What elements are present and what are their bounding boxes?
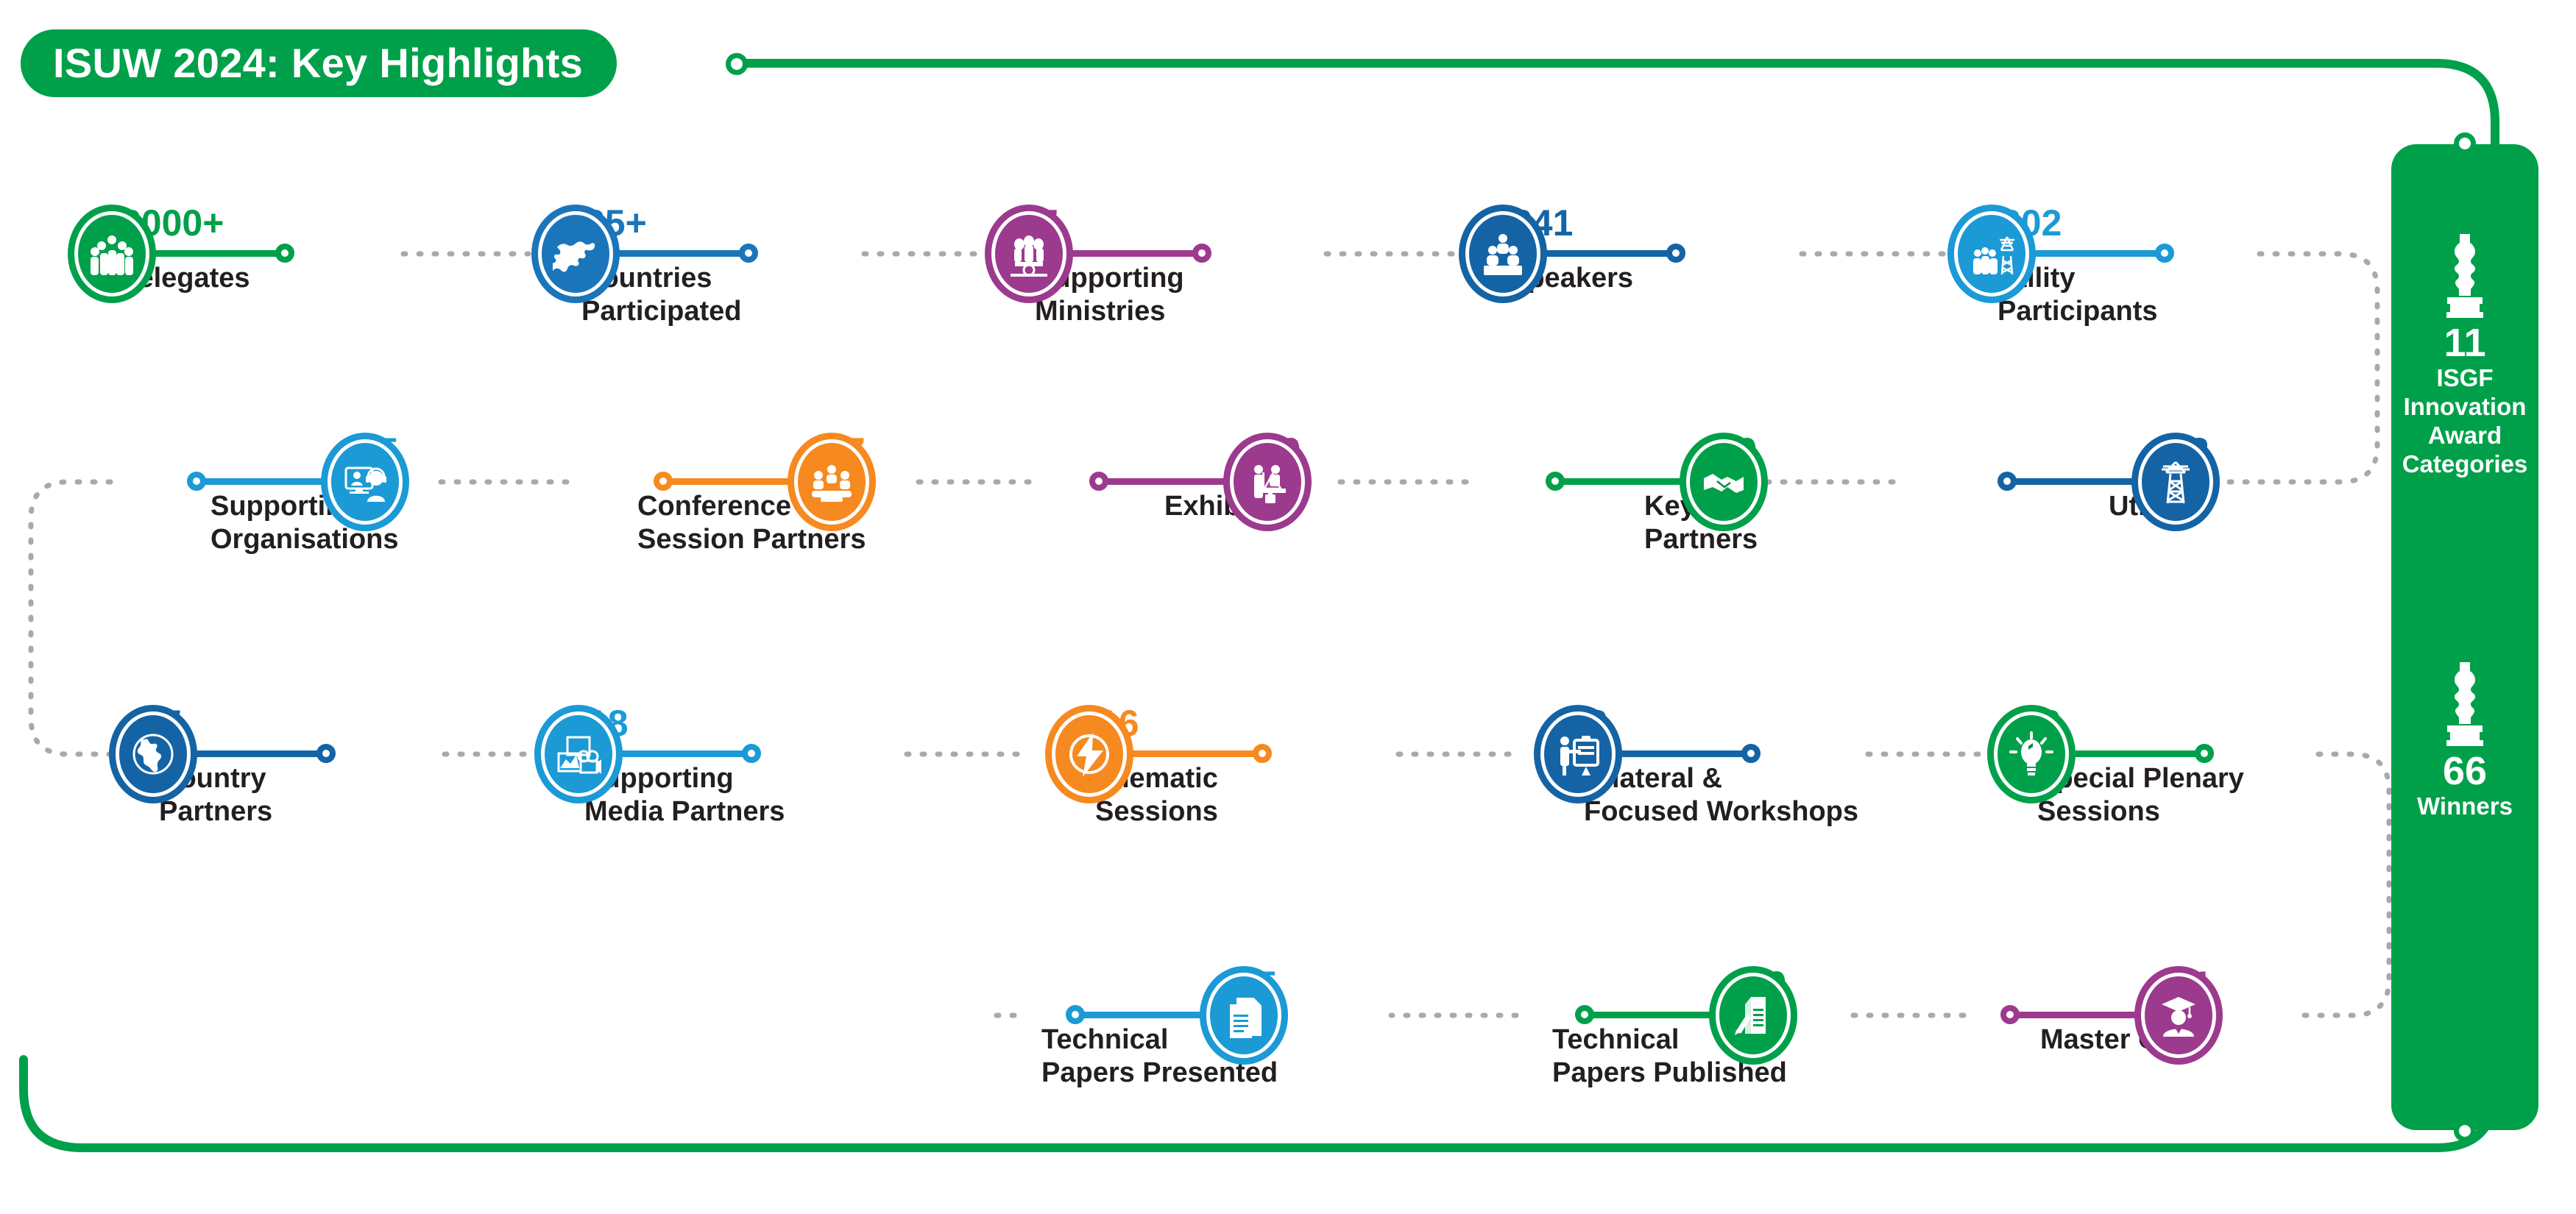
stat-icon-ring-supporting-orgs (321, 433, 409, 531)
award-categories-value: 11 (2391, 322, 2538, 364)
stat-icon-ring-utilities (2131, 433, 2220, 531)
award-block-winners: 66 Winners (2391, 659, 2538, 821)
stat-connector-countries (614, 250, 745, 257)
exhibition-booth-icon (1234, 443, 1301, 521)
stat-icon-ring-bilateral-workshops (1534, 705, 1622, 803)
infographic-canvas: ISUW 2024: Key Highlights 2000+Delegates… (0, 0, 2576, 1214)
stat-connector-knob-conference-partners (654, 472, 673, 491)
stat-connector-knob-utility-participants (2155, 244, 2174, 263)
stat-connector-speakers (1541, 250, 1672, 257)
stat-connector-supporting-orgs (196, 478, 327, 485)
speaker-panel-icon (1469, 215, 1537, 293)
stat-icon-ring-key-partners (1680, 433, 1768, 531)
stat-connector-knob-speakers (1666, 244, 1685, 263)
stat-connector-plenary-sessions (2070, 750, 2201, 757)
stat-icon-ring-thematic-sessions (1045, 705, 1133, 803)
title-connector-knob (726, 53, 748, 75)
stat-connector-knob-supporting-orgs (187, 472, 206, 491)
handshake-icon (1690, 443, 1758, 521)
transmission-tower-icon (2142, 443, 2209, 521)
stat-connector-country-partners (191, 750, 322, 757)
stat-connector-media-partners (617, 750, 748, 757)
stat-connector-knob-countries (739, 244, 758, 263)
stat-connector-utilities (2006, 478, 2137, 485)
stat-connector-ministries (1067, 250, 1198, 257)
stat-icon-ring-speakers (1459, 205, 1547, 303)
stat-icon-ring-ministries (985, 205, 1073, 303)
stat-connector-knob-master-class (2000, 1005, 2020, 1024)
energy-bolt-icon (1055, 715, 1123, 793)
presentation-board-icon (1544, 715, 1612, 793)
stat-icon-ring-conference-partners (788, 433, 876, 531)
trophy-icon (2442, 659, 2488, 746)
stat-connector-knob-country-partners (316, 744, 336, 763)
globe-world-map-icon (542, 215, 609, 293)
stat-icon-ring-exhibitors (1223, 433, 1312, 531)
stat-connector-key-partners (1554, 478, 1685, 485)
stat-connector-knob-ministries (1192, 244, 1211, 263)
lightbulb-icon (1998, 715, 2065, 793)
award-winners-label: Winners (2391, 792, 2538, 821)
media-camera-icon (545, 715, 612, 793)
stat-connector-papers-published (1584, 1012, 1715, 1018)
globe-americas-icon (119, 715, 187, 793)
stat-connector-utility-participants (2030, 250, 2161, 257)
graduate-icon (2145, 976, 2212, 1054)
stat-connector-exhibitors (1098, 478, 1229, 485)
stat-connector-knob-exhibitors (1089, 472, 1108, 491)
award-block-categories: 11 ISGF Innovation Award Categories (2391, 231, 2538, 478)
stat-connector-knob-plenary-sessions (2195, 744, 2214, 763)
award-panel-top-knob (2454, 132, 2476, 155)
award-panel: 11 ISGF Innovation Award Categories 66 W… (2391, 144, 2538, 1130)
stat-icon-ring-papers-published (1709, 966, 1797, 1065)
utility-crowd-tower-icon (1958, 215, 2025, 293)
stat-icon-ring-media-partners (534, 705, 623, 803)
stat-connector-knob-media-partners (742, 744, 761, 763)
award-winners-value: 66 (2391, 750, 2538, 792)
stat-icon-ring-delegates (68, 205, 156, 303)
stat-icon-ring-country-partners (109, 705, 197, 803)
stat-connector-bilateral-workshops (1616, 750, 1747, 757)
stat-icon-ring-utility-participants (1947, 205, 2036, 303)
stat-connector-knob-papers-presented (1066, 1005, 1085, 1024)
trophy-icon (2442, 231, 2488, 318)
stat-connector-papers-presented (1075, 1012, 1206, 1018)
stat-icon-ring-master-class (2134, 966, 2223, 1065)
people-group-icon (78, 215, 146, 293)
stat-label-bilateral-workshops: Bilateral & Focused Workshops (1584, 762, 1858, 828)
stat-icon-ring-plenary-sessions (1987, 705, 2076, 803)
stat-connector-knob-thematic-sessions (1253, 744, 1272, 763)
stat-connector-knob-utilities (1998, 472, 2017, 491)
stat-connector-conference-partners (662, 478, 793, 485)
stat-connector-thematic-sessions (1128, 750, 1259, 757)
stat-icon-ring-countries (531, 205, 620, 303)
stat-connector-knob-bilateral-workshops (1741, 744, 1761, 763)
stat-connector-knob-delegates (275, 244, 294, 263)
stat-connector-knob-key-partners (1546, 472, 1565, 491)
stat-connector-delegates (150, 250, 281, 257)
video-call-icon (331, 443, 399, 521)
page-title: ISUW 2024: Key Highlights (53, 43, 583, 84)
stat-connector-master-class (2009, 1012, 2140, 1018)
stat-icon-ring-papers-presented (1200, 966, 1288, 1065)
award-categories-label: ISGF Innovation Award Categories (2391, 364, 2538, 479)
documents-icon (1210, 976, 1278, 1054)
national-emblem-icon (995, 215, 1063, 293)
stat-connector-knob-papers-published (1575, 1005, 1594, 1024)
award-panel-bottom-knob (2454, 1120, 2476, 1142)
write-paper-icon (1719, 976, 1787, 1054)
title-badge: ISUW 2024: Key Highlights (21, 29, 617, 97)
conference-table-icon (798, 443, 866, 521)
